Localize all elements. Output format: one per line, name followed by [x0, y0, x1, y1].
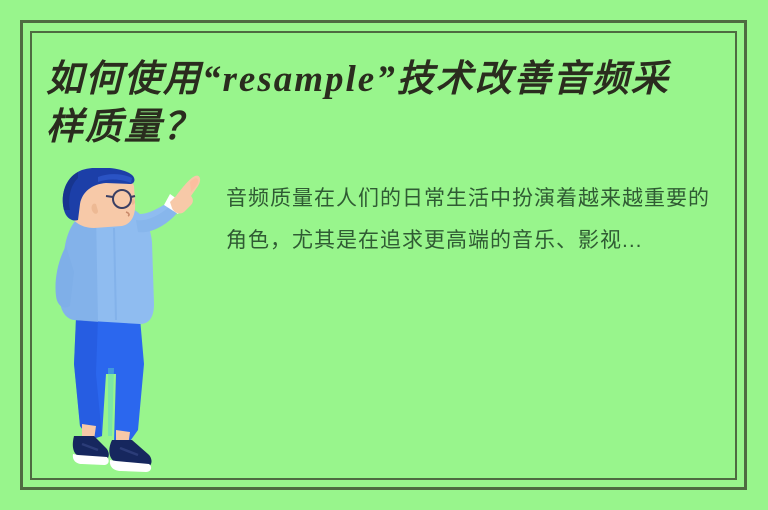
- pointing-person-illustration: [52, 168, 202, 478]
- article-excerpt: 音频质量在人们的日常生活中扮演着越来越重要的角色，尤其是在追求更高端的音乐、影视…: [226, 178, 726, 262]
- shoes-shape: [73, 436, 152, 472]
- pointing-hand-shape: [170, 176, 200, 214]
- page-title: 如何使用“resample”技术改善音频采样质量？: [46, 56, 696, 152]
- article-cover-card: 如何使用“resample”技术改善音频采样质量？ 音频质量在人们的日常生活中扮…: [0, 0, 768, 510]
